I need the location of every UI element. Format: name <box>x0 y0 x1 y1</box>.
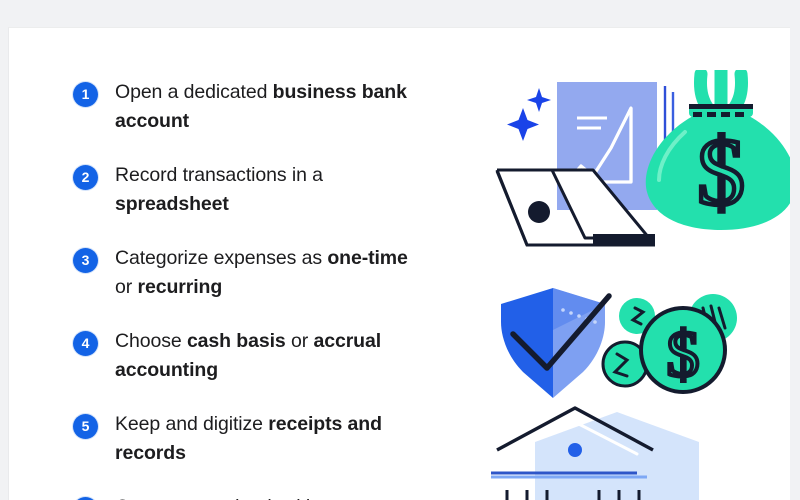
step-text-plain: Keep and digitize <box>115 413 268 435</box>
steps-list: 1Open a dedicated business bank account2… <box>73 78 433 500</box>
step-number-badge: 2 <box>73 165 98 190</box>
shield-coins-illustration: $ <box>497 286 787 401</box>
step-item: 4Choose cash basis or accrual accounting <box>73 327 433 385</box>
sparkle-small <box>527 88 551 112</box>
step-text: Open a dedicated business bank account <box>115 78 415 136</box>
bank-facade <box>535 412 699 500</box>
step-text-emphasis: recurring <box>137 276 222 298</box>
laptop-keyboard <box>593 234 655 245</box>
step-text-plain: Record transactions in a <box>115 164 323 186</box>
bank-dot <box>568 443 582 457</box>
step-item: 6Connect your bank with <box>73 493 433 500</box>
step-text-plain: or <box>286 330 314 352</box>
content-card: 1Open a dedicated business bank account2… <box>8 27 790 500</box>
step-number-badge: 4 <box>73 331 98 356</box>
step-number-badge: 1 <box>73 82 98 107</box>
laptop-chart-money-bag-illustration: $ <box>489 70 790 260</box>
dollar-sign: $ <box>697 118 745 225</box>
step-text-plain: or <box>115 276 137 298</box>
step-number-badge: 5 <box>73 414 98 439</box>
coin-dollar-sign: $ <box>667 318 700 391</box>
step-text-plain: Choose <box>115 330 187 352</box>
shield <box>501 288 609 398</box>
step-text: Keep and digitize receipts and records <box>115 410 415 468</box>
bank-building-illustration <box>487 398 757 500</box>
step-number-badge: 3 <box>73 248 98 273</box>
money-bag: $ <box>646 70 790 230</box>
coins-cluster: $ <box>603 294 737 392</box>
step-text: Choose cash basis or accrual accounting <box>115 327 415 385</box>
shield-left-face <box>501 288 553 398</box>
laptop-trackpad-dot <box>528 201 550 223</box>
step-text: Record transactions in a spreadsheet <box>115 161 415 219</box>
step-item: 2Record transactions in a spreadsheet <box>73 161 433 219</box>
step-text: Connect your bank with <box>115 493 317 500</box>
step-text: Categorize expenses as one-time or recur… <box>115 244 415 302</box>
step-item: 5Keep and digitize receipts and records <box>73 410 433 468</box>
step-text-emphasis: cash basis <box>187 330 286 352</box>
step-text-emphasis: spreadsheet <box>115 193 229 215</box>
step-item: 1Open a dedicated business bank account <box>73 78 433 136</box>
top-gutter-band <box>0 0 800 27</box>
step-text-plain: Open a dedicated <box>115 81 273 103</box>
infographic-page: 1Open a dedicated business bank account2… <box>0 0 800 500</box>
step-text-emphasis: one-time <box>327 247 407 269</box>
sparkle-large <box>507 108 539 141</box>
step-text-plain: Connect your bank with <box>115 496 317 500</box>
illustration-column: $ <box>479 28 790 500</box>
step-text-plain: Categorize expenses as <box>115 247 327 269</box>
step-item: 3Categorize expenses as one-time or recu… <box>73 244 433 302</box>
